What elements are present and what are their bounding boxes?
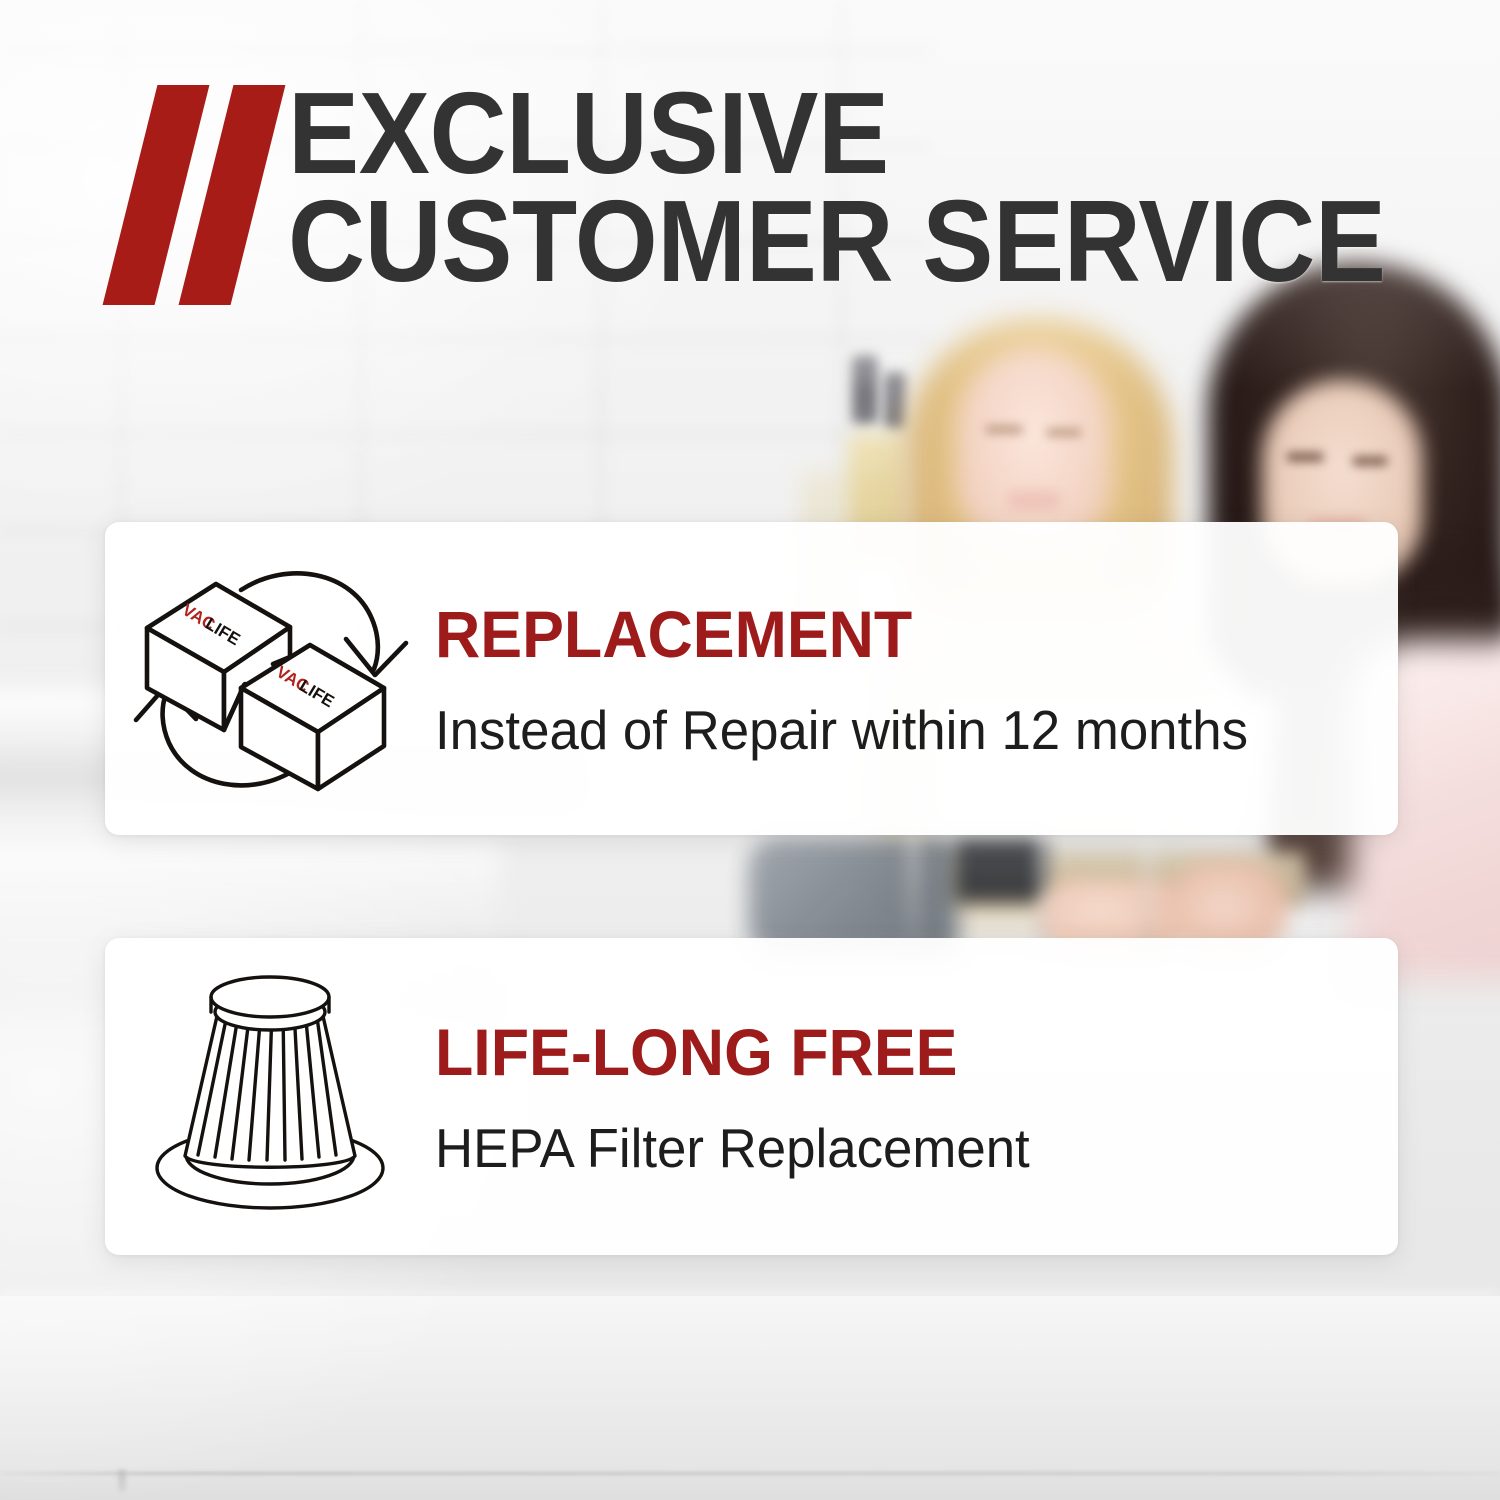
- box-exchange-icon: VAC LIFE VAC LIFE: [105, 557, 435, 801]
- feature-card-hepa-filter-text: LIFE-LONG FREE HEPA Filter Replacement: [435, 1014, 1398, 1180]
- utensil-shape-2: [884, 372, 906, 430]
- page-title-line-2: CUSTOMER SERVICE: [288, 188, 1386, 296]
- page-title-line-1: EXCLUSIVE: [288, 80, 1386, 188]
- dark-sleeve: [955, 838, 1047, 902]
- banner-header: EXCLUSIVE CUSTOMER SERVICE: [0, 0, 1500, 340]
- dark-haired-woman-eye-left: [1286, 452, 1324, 462]
- feature-card-replacement-title: REPLACEMENT: [435, 596, 1312, 672]
- blonde-woman-mouth: [1006, 492, 1062, 508]
- feature-card-hepa-filter[interactable]: LIFE-LONG FREE HEPA Filter Replacement: [105, 938, 1398, 1255]
- countertop: [0, 1296, 1500, 1500]
- blonde-woman-eye-left: [985, 425, 1023, 434]
- blonde-woman-face: [958, 350, 1110, 550]
- filter-top-cap: [211, 977, 329, 1017]
- feature-card-hepa-filter-subtitle: HEPA Filter Replacement: [435, 1116, 1321, 1180]
- promo-banner: EXCLUSIVE CUSTOMER SERVICE: [0, 0, 1500, 1500]
- dark-haired-woman-eye-right: [1352, 456, 1388, 466]
- page-title: EXCLUSIVE CUSTOMER SERVICE: [288, 80, 1481, 296]
- box-exchange-icon-svg: VAC LIFE VAC LIFE: [124, 557, 416, 801]
- countertop-seam: [0, 1472, 1500, 1475]
- hepa-filter-icon: [105, 972, 435, 1222]
- countertop-mark: [118, 1470, 126, 1492]
- utensil-shape: [852, 355, 878, 425]
- feature-card-replacement-text: REPLACEMENT Instead of Repair within 12 …: [435, 596, 1398, 762]
- blonde-woman-eye-right: [1046, 428, 1082, 437]
- feature-card-replacement[interactable]: VAC LIFE VAC LIFE REPLACEMENT Instead of…: [105, 522, 1398, 835]
- double-slash-icon: [120, 85, 290, 305]
- hepa-filter-icon-svg: [136, 972, 404, 1222]
- feature-card-hepa-filter-title: LIFE-LONG FREE: [435, 1014, 1312, 1090]
- feature-card-replacement-subtitle: Instead of Repair within 12 months: [435, 698, 1321, 762]
